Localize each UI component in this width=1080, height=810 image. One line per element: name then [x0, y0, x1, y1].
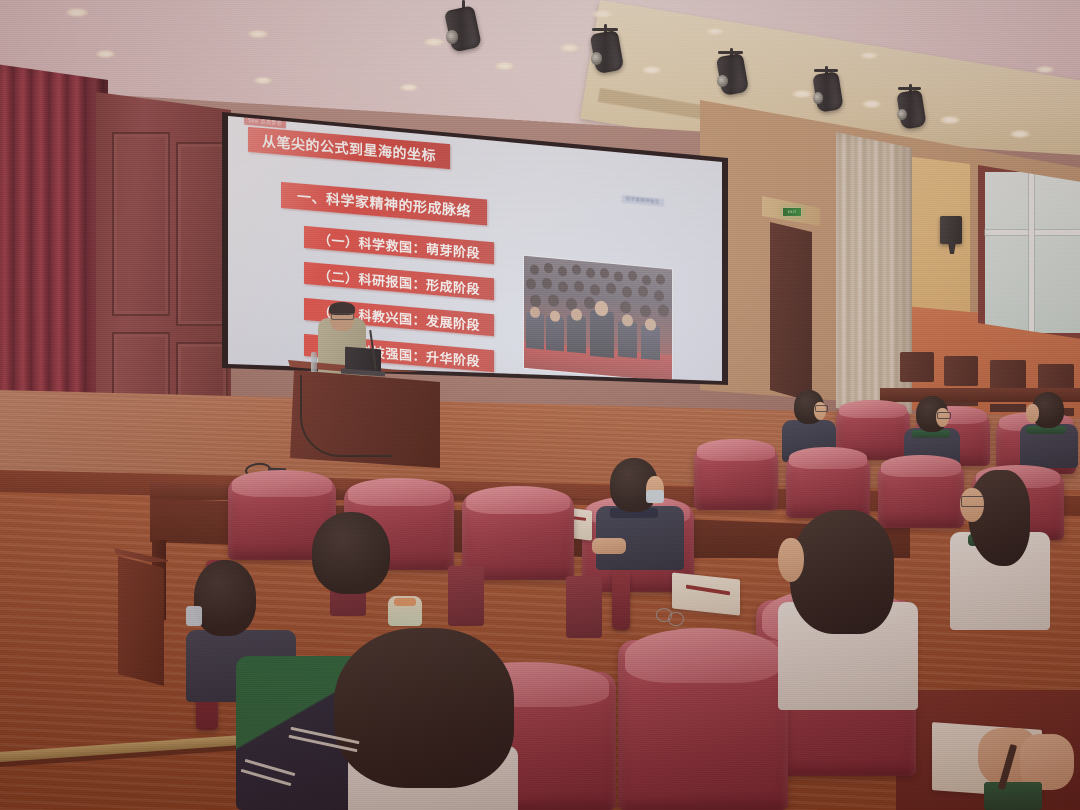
- audience-member: [322, 628, 552, 810]
- photo-crowd-head: [586, 267, 595, 278]
- spotlight-yoke: [898, 87, 921, 90]
- face-mask: [646, 490, 664, 503]
- auditorium-photo: EXIT See 点亮梦想 从笔尖的公式到星海的坐标 科学家精神报告 一、科学家…: [0, 0, 1080, 810]
- person-eyeglasses: [815, 405, 828, 412]
- person-hair: [334, 628, 514, 788]
- spotlight-lens: [717, 75, 728, 87]
- seat-tablet-arm: [448, 566, 484, 626]
- chair-back: [900, 352, 934, 382]
- downlight: [254, 77, 272, 84]
- stage-spotlight: [716, 48, 756, 104]
- window-mullion-vertical: [1029, 172, 1034, 333]
- downlight: [642, 66, 661, 74]
- side-bench-end: [118, 556, 164, 686]
- downlight: [706, 28, 724, 35]
- face-mask: [186, 606, 202, 626]
- bottle-cap: [394, 598, 416, 606]
- downlight: [96, 50, 115, 58]
- person-hair: [790, 510, 894, 634]
- photo-official-head: [645, 318, 656, 331]
- stage-spotlight: [896, 84, 936, 140]
- stage-spotlight: [590, 24, 630, 80]
- audience-member: [950, 470, 1060, 630]
- person-sleeve: [984, 782, 1042, 810]
- auditorium-seat: [618, 640, 788, 810]
- slide-heading: 一、科学家精神的形成脉络: [281, 182, 487, 226]
- photo-crowd-head: [544, 263, 553, 274]
- downlight: [1010, 130, 1030, 138]
- person-face: [778, 538, 804, 582]
- doorway: [770, 222, 812, 402]
- photo-official-head: [622, 314, 633, 327]
- spotlight-lens: [897, 109, 907, 120]
- exit-sign: EXIT: [782, 207, 802, 217]
- slide-watermark: 科学家精神报告: [622, 195, 664, 207]
- person-face: [1026, 404, 1039, 423]
- photo-crowd-head: [654, 290, 664, 302]
- projection-screen-assembly: See 点亮梦想 从笔尖的公式到星海的坐标 科学家精神报告 一、科学家精神的形成…: [210, 100, 730, 400]
- seat-headrest: [625, 628, 781, 682]
- photo-crowd-head: [590, 284, 600, 296]
- downlight: [1036, 66, 1054, 73]
- photo-crowd-head: [548, 294, 559, 307]
- photo-crowd-head: [600, 268, 609, 279]
- photo-crowd-head: [606, 282, 616, 294]
- photo-crowd-head: [558, 281, 568, 293]
- photo-crowd-head: [530, 264, 539, 275]
- seat-armrest: [612, 570, 630, 630]
- auditorium-seat: [694, 444, 778, 510]
- photo-crowd-head: [640, 305, 651, 318]
- spotlight-lens: [813, 92, 823, 104]
- downlight: [940, 116, 960, 124]
- person-eyeglasses: [961, 496, 985, 507]
- photo-crowd-head: [622, 286, 632, 298]
- photo-central-figure-head: [595, 300, 608, 316]
- person-head: [194, 560, 256, 636]
- projection-screen: See 点亮梦想 从笔尖的公式到星海的坐标 科学家精神报告 一、科学家精神的形成…: [210, 100, 730, 400]
- photo-official-head: [550, 310, 560, 322]
- photo-crowd-head: [526, 278, 536, 290]
- audience-member: [778, 510, 928, 710]
- seat-headrest: [881, 455, 960, 477]
- eyeglasses-on-desk: [668, 612, 684, 626]
- window: [978, 165, 1080, 340]
- downlight: [792, 90, 812, 98]
- photo-crowd-head: [572, 264, 581, 275]
- photo-crowd-head: [638, 285, 648, 297]
- downlight: [495, 62, 514, 70]
- photo-crowd-head: [656, 274, 665, 285]
- downlight: [424, 38, 444, 46]
- downlight: [860, 52, 878, 59]
- slide-bullet: （二）科研报国：形成阶段: [304, 262, 494, 300]
- downlight: [400, 84, 418, 91]
- photo-official-head: [571, 308, 582, 321]
- photo-crowd-head: [584, 296, 595, 309]
- photo-crowd-head: [558, 266, 567, 277]
- photo-crowd-head: [628, 270, 637, 281]
- seat-headrest: [839, 400, 907, 418]
- downlight: [862, 100, 881, 108]
- spotlight-body: [444, 5, 482, 52]
- photo-crowd-head: [642, 275, 651, 286]
- stage-spotlight: [812, 66, 852, 122]
- stage-spotlight: [446, 0, 486, 56]
- person-head: [312, 512, 390, 594]
- downlight: [66, 8, 88, 17]
- person-eyeglasses: [937, 412, 951, 419]
- exit-sign-label: EXIT: [788, 210, 797, 214]
- seat-headrest: [232, 470, 331, 497]
- photo-central-figure: [590, 310, 614, 358]
- downlight: [592, 10, 613, 18]
- downlight: [248, 30, 268, 38]
- photo-crowd-head: [620, 301, 631, 314]
- photo-crowd-head: [530, 294, 541, 307]
- chair-back: [990, 360, 1026, 391]
- wall-speaker: [940, 216, 962, 244]
- photo-crowd-head: [614, 271, 623, 282]
- seat-tablet-arm: [566, 576, 602, 638]
- audience-member: [596, 458, 688, 568]
- audience-member: [1018, 392, 1080, 466]
- person-arm: [592, 538, 626, 554]
- speaker-eyeglasses: [331, 313, 354, 320]
- seat-headrest: [789, 447, 866, 468]
- chair-back: [944, 356, 978, 386]
- photo-crowd-head: [658, 304, 669, 317]
- slide-photo: [524, 256, 672, 382]
- spotlight-lens: [446, 30, 458, 44]
- seat-headrest: [697, 439, 774, 460]
- spotlight-lens: [591, 52, 602, 65]
- seat-headrest: [348, 478, 449, 506]
- water-bottle-on-podium: [311, 352, 317, 372]
- photo-crowd-head: [574, 280, 584, 292]
- floor-cable: [300, 375, 392, 457]
- slide-bullet: （一）科学救国：萌芽阶段: [304, 226, 494, 264]
- photo-official-head: [530, 306, 540, 318]
- auditorium-seat: [786, 452, 870, 518]
- downlight: [560, 44, 579, 52]
- photo-crowd-head: [542, 277, 552, 289]
- wood-panel-frame: [112, 132, 170, 316]
- seat-headrest: [466, 486, 569, 514]
